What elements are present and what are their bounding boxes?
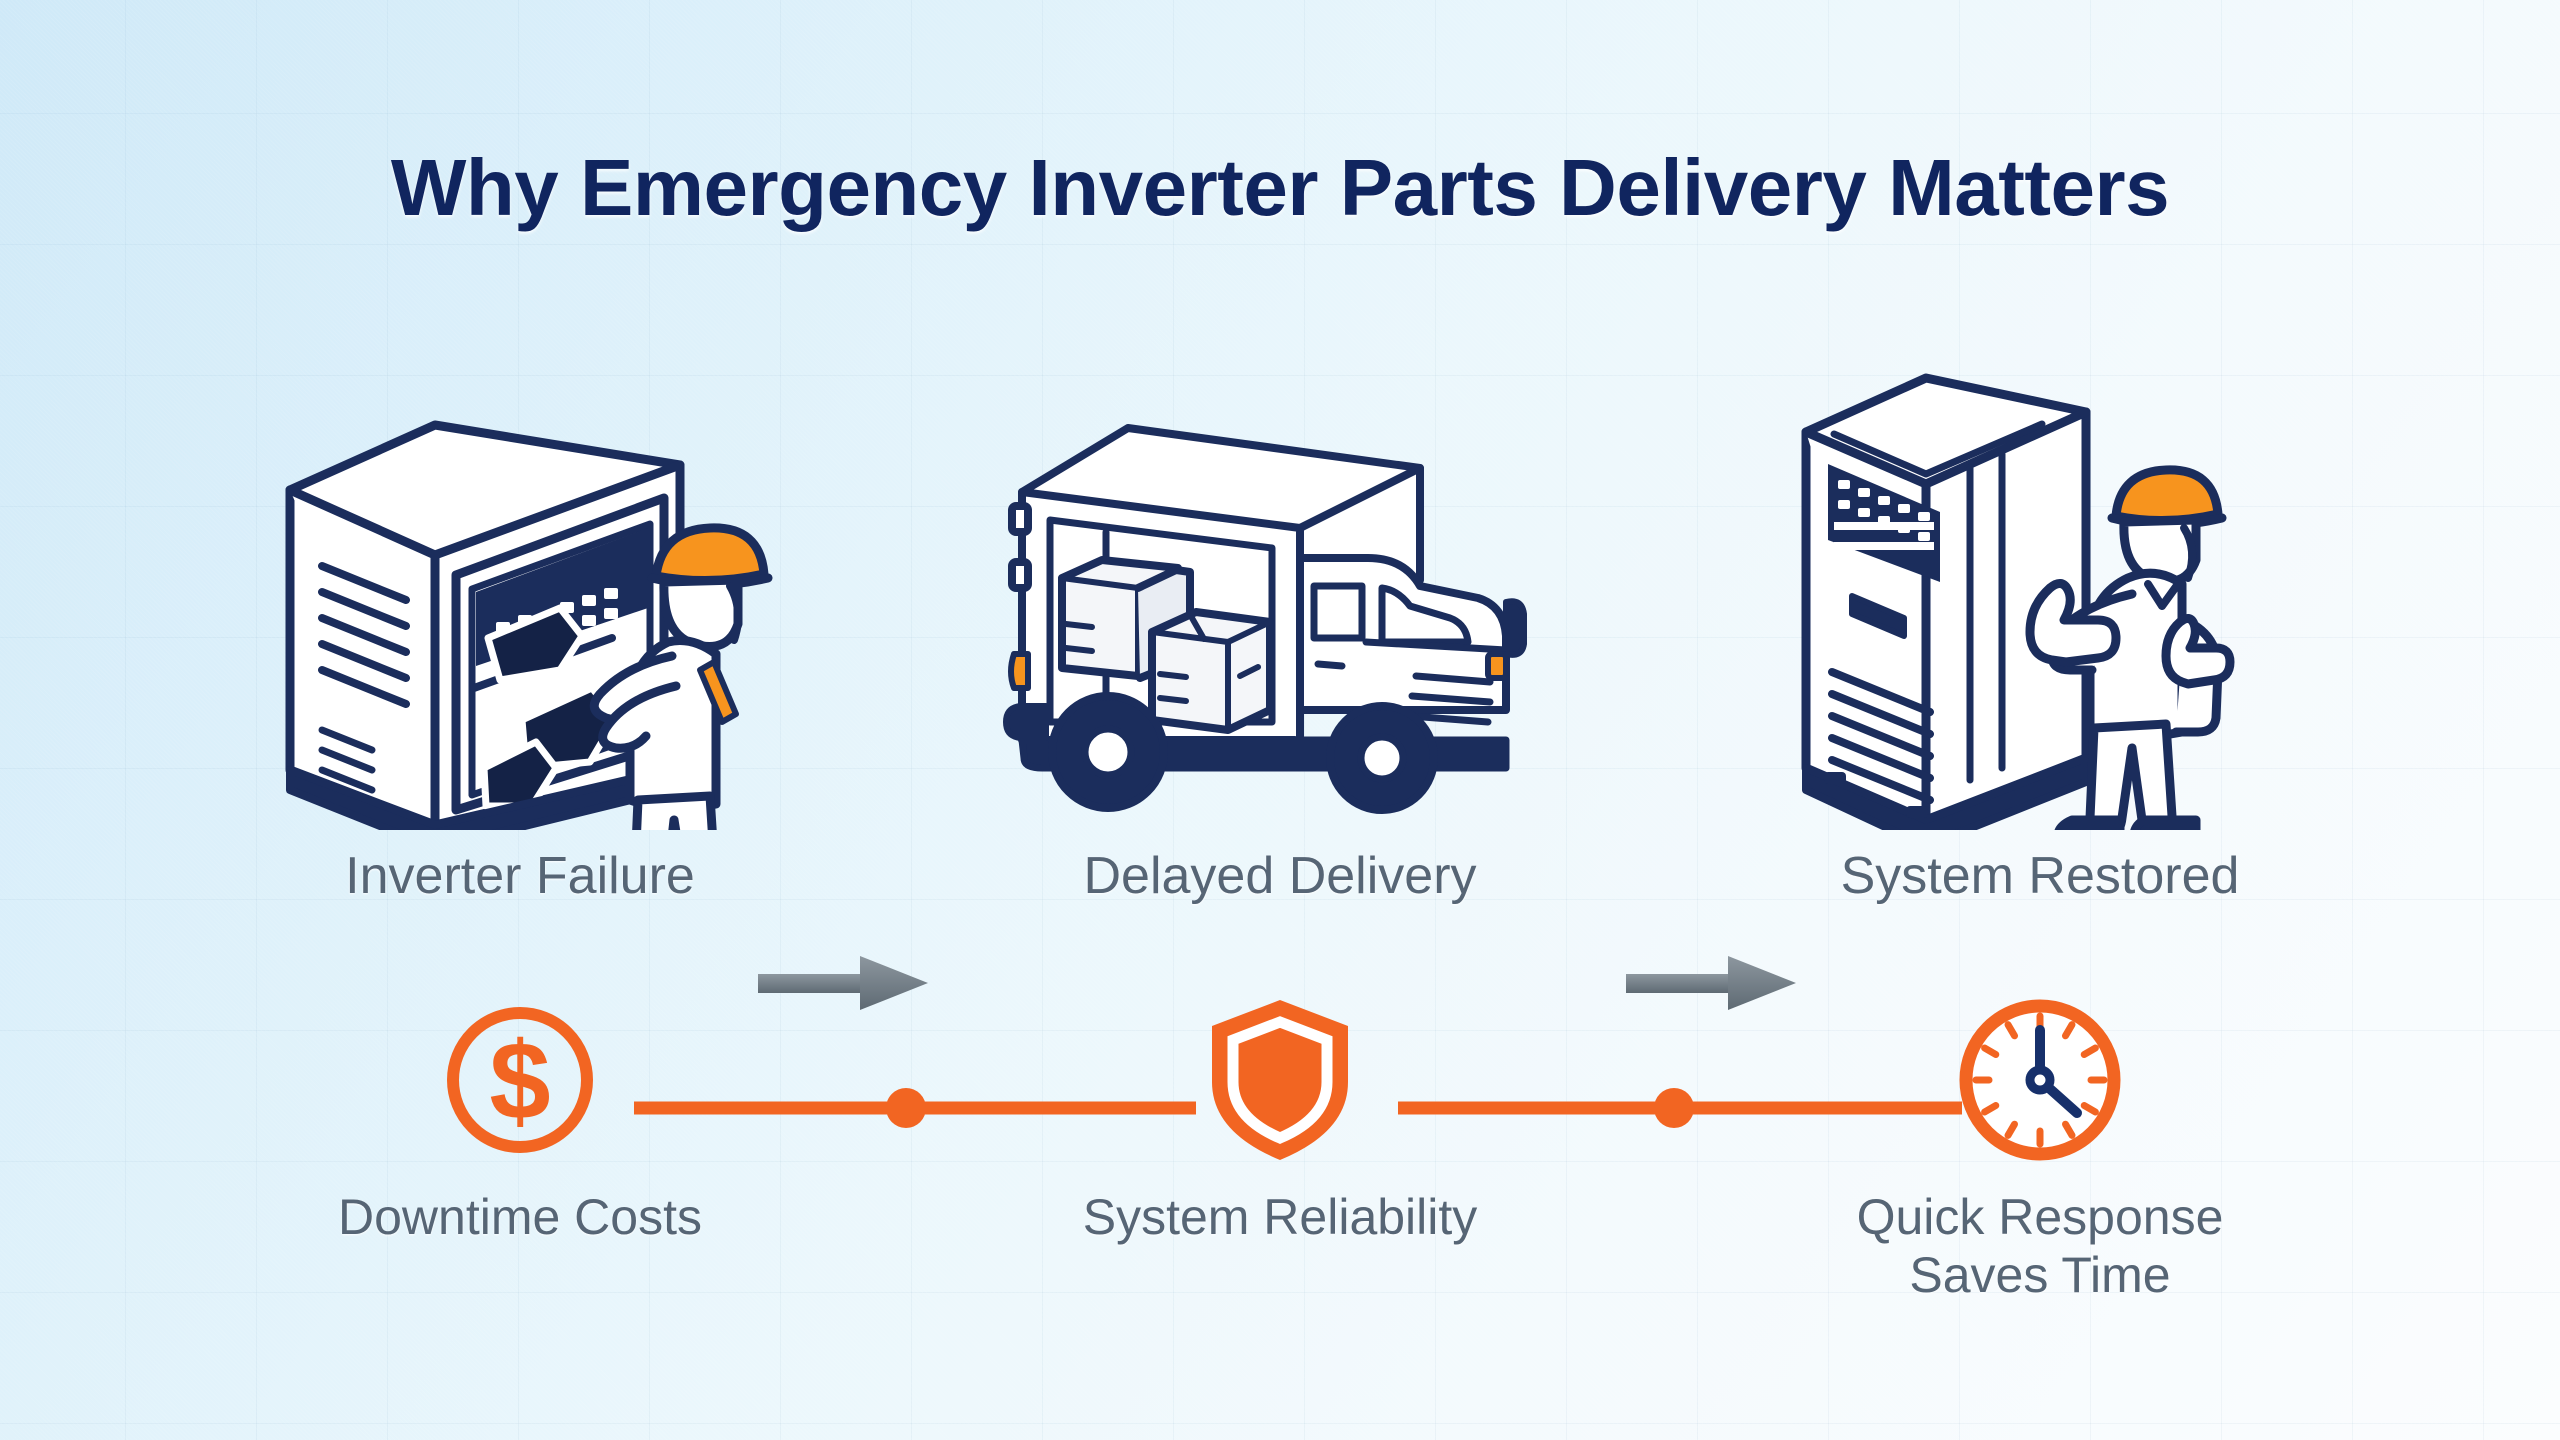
dollar-circle-icon: $ bbox=[440, 1000, 600, 1160]
benefit-label: Downtime Costs bbox=[338, 1188, 702, 1246]
clock-icon bbox=[1956, 1000, 2124, 1160]
benefit-system-reliability: System Reliability bbox=[1000, 1000, 1560, 1246]
benefit-label: System Reliability bbox=[1083, 1188, 1478, 1246]
stage-delayed-delivery: Delayed Delivery bbox=[1000, 360, 1560, 980]
benefit-label: Quick Response Saves Time bbox=[1857, 1188, 2224, 1304]
restored-inverter-cabinet-with-thumbs-up-technician-illustration bbox=[1780, 360, 2300, 830]
stage-system-restored: System Restored bbox=[1760, 360, 2320, 980]
stage-inverter-failure: Inverter Failure bbox=[240, 360, 800, 980]
benefits-row: $ Downtime Costs System Reliability bbox=[0, 1000, 2560, 1420]
delivery-truck-with-boxes-illustration bbox=[1000, 360, 1560, 830]
infographic-poster: Why Emergency Inverter Parts Delivery Ma… bbox=[0, 0, 2560, 1440]
stage-label: Inverter Failure bbox=[345, 846, 695, 906]
shield-icon bbox=[1205, 1000, 1355, 1160]
stage-label: System Restored bbox=[1841, 846, 2240, 906]
broken-inverter-cabinet-with-technician-illustration bbox=[260, 360, 780, 830]
page-title: Why Emergency Inverter Parts Delivery Ma… bbox=[0, 148, 2560, 228]
benefit-downtime-costs: $ Downtime Costs bbox=[240, 1000, 800, 1246]
svg-text:$: $ bbox=[489, 1020, 550, 1143]
process-flow-row: Inverter Failure bbox=[0, 360, 2560, 980]
benefit-quick-response: Quick Response Saves Time bbox=[1760, 1000, 2320, 1304]
stage-label: Delayed Delivery bbox=[1083, 846, 1476, 906]
